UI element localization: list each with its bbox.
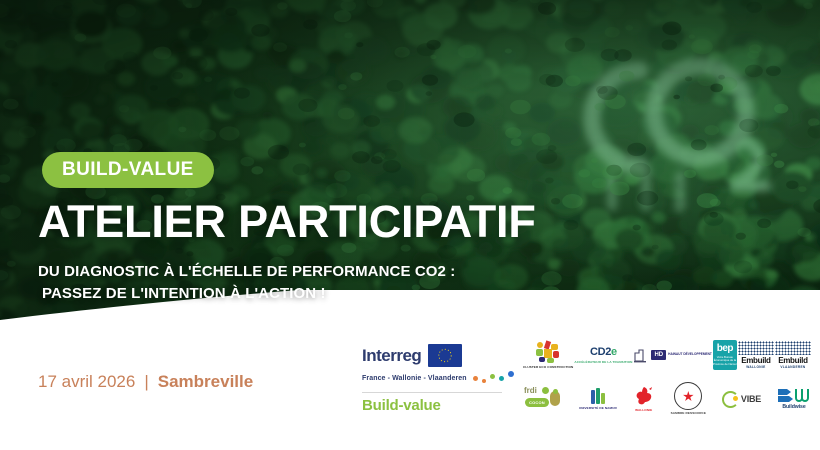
page-title: ATELIER PARTICIPATIF [38, 199, 536, 244]
eu-emblem-wrap: Cofinancé par l'Union Européenne Medegef… [428, 344, 462, 367]
cd2e-tagline: ACCÉLÉRATEUR DE LA TRANSITION [574, 360, 632, 364]
subtitle-line-1: DU DIAGNOSTIC À L'ÉCHELLE DE PERFORMANCE… [38, 261, 455, 283]
circular-star-icon [683, 391, 694, 402]
partner-logo-row-2: frdi COCON UNIVERSITÉ DE NAMUR [523, 377, 811, 421]
event-date: 17 avril 2026 [38, 372, 135, 392]
hainaut-building-icon [633, 348, 649, 363]
buildwise-logo[interactable]: Buildwise [777, 388, 811, 410]
interreg-wordmark: Interreg [362, 347, 421, 364]
subtitle-line-2: PASSEZ DE L'INTENTION À L'ACTION ! [38, 283, 455, 305]
embuild-dots-icon [738, 341, 774, 355]
event-city: Sambreville [158, 372, 253, 392]
vibe-wordmark: VIBE [741, 394, 761, 404]
frdi-cocon-icon: frdi COCON [523, 386, 563, 412]
interreg-program-row: France - Wallonie - Vlaanderen [362, 371, 512, 385]
build-value-project-name: Build-value [362, 397, 512, 414]
eu-stars-icon [428, 344, 462, 367]
hainaut-hd-badge: HD [651, 350, 666, 360]
unamur-label: UNIVERSITÉ DE NAMUR [579, 406, 617, 410]
bep-logo[interactable]: bep Votre Bureau Économique de la Provin… [713, 340, 737, 370]
event-date-location: 17 avril 2026 | Sambreville [38, 372, 253, 392]
hainaut-logo-row: HD HAINAUT DÉVELOPPEMENT [633, 348, 711, 363]
buildwise-glyph [777, 388, 811, 403]
cocon-label: COCON [525, 398, 549, 407]
rooster-glyph [633, 385, 655, 407]
partner-logo-grid: CLUSTER ECO CONSTRUCTION CD2e ACCÉLÉRATE… [523, 333, 811, 421]
interreg-divider [362, 392, 502, 393]
interreg-top-row: Interreg Cofinancé par l'Union Européenn… [362, 344, 512, 367]
event-subtitle: DU DIAGNOSTIC À L'ÉCHELLE DE PERFORMANCE… [38, 261, 455, 305]
circular-label: SAMBRE RESSOURCE [671, 411, 706, 415]
interreg-logo-block: Interreg Cofinancé par l'Union Européenn… [362, 344, 512, 414]
bep-tile-icon: bep Votre Bureau Économique de la Provin… [713, 340, 737, 370]
vibe-logo[interactable]: VIBE [722, 391, 761, 408]
universite-de-namur-logo[interactable]: UNIVERSITÉ DE NAMUR [579, 388, 617, 410]
cd2e-logo[interactable]: CD2e ACCÉLÉRATEUR DE LA TRANSITION [574, 346, 632, 364]
cluster-eco-construction-logo[interactable]: CLUSTER ECO CONSTRUCTION [523, 341, 573, 369]
embuild-wallonie-region: WALLONIE [746, 365, 765, 369]
hainaut-glyph [633, 348, 649, 363]
cluster-eco-construction-label: CLUSTER ECO CONSTRUCTION [523, 365, 573, 369]
wallonie-logo[interactable]: WALLONIE [633, 385, 655, 412]
event-poster: BUILD-VALUE ATELIER PARTICIPATIF DU DIAG… [0, 0, 820, 450]
partner-logo-row-1: CLUSTER ECO CONSTRUCTION CD2e ACCÉLÉRATE… [523, 333, 811, 377]
embuild-vlaanderen-region: VLAANDEREN [780, 365, 805, 369]
cluster-eco-construction-icon [535, 341, 561, 363]
embuild-wallonie-wordmark: Embuild [741, 356, 770, 365]
frdi-cocon-logo[interactable]: frdi COCON [523, 386, 563, 412]
embuild-vlaanderen-logo[interactable]: Embuild VLAANDEREN [775, 341, 811, 369]
embuild-vlaanderen-wordmark: Embuild [778, 356, 807, 365]
interreg-dots-icon [473, 371, 512, 385]
buildwise-mark-icon [777, 388, 811, 403]
interreg-program-label: France - Wallonie - Vlaanderen [362, 375, 467, 382]
embuild-dots-icon-2 [775, 341, 811, 355]
cd2e-wordmark: CD2e [590, 346, 617, 358]
build-value-badge[interactable]: BUILD-VALUE [42, 152, 214, 188]
wallonie-label: WALLONIE [635, 408, 652, 412]
eu-funding-text: Cofinancé par l'Union Européenne Medegef… [465, 346, 525, 353]
bep-wordmark: bep [717, 344, 733, 354]
embuild-wallonie-logo[interactable]: Embuild WALLONIE [738, 341, 774, 369]
vibe-circle-icon [722, 391, 739, 408]
circular-badge-icon [674, 382, 702, 410]
unamur-mark-icon [591, 388, 605, 404]
frdi-wordmark: frdi [524, 386, 537, 395]
bep-tagline: Votre Bureau Économique de la Province d… [713, 356, 737, 366]
buildwise-wordmark: Buildwise [782, 404, 805, 410]
label-circulaire-logo[interactable]: SAMBRE RESSOURCE [671, 382, 706, 415]
wallonie-rooster-icon [633, 385, 655, 407]
hainaut-developpement-logo[interactable]: HD HAINAUT DÉVELOPPEMENT [633, 348, 711, 363]
date-separator: | [144, 372, 148, 392]
vibe-lockup: VIBE [722, 391, 761, 408]
cd2e-e-icon: e [611, 346, 617, 358]
hainaut-label: HAINAUT DÉVELOPPEMENT [668, 353, 712, 357]
eu-flag-icon [428, 344, 462, 367]
